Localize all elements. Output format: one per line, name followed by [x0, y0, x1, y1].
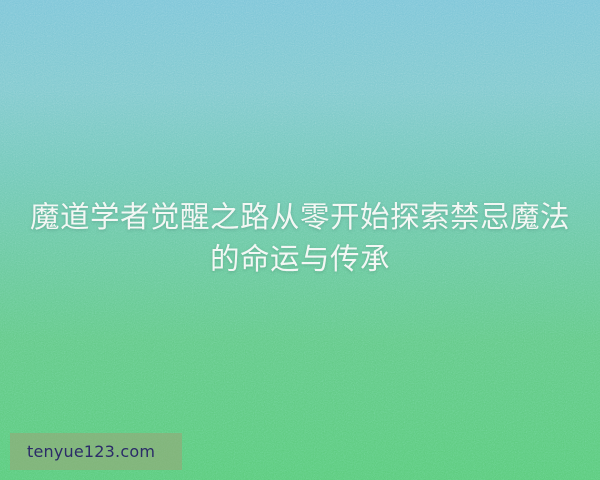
title-line-2: 的命运与传承 [14, 238, 586, 280]
watermark-text: tenyue123.com [10, 442, 155, 461]
gradient-banner: 魔道学者觉醒之路从零开始探索禁忌魔法 的命运与传承 tenyue123.com [0, 0, 600, 480]
title-line-1: 魔道学者觉醒之路从零开始探索禁忌魔法 [14, 196, 586, 238]
banner-title: 魔道学者觉醒之路从零开始探索禁忌魔法 的命运与传承 [0, 196, 600, 280]
watermark-badge: tenyue123.com [10, 433, 182, 470]
